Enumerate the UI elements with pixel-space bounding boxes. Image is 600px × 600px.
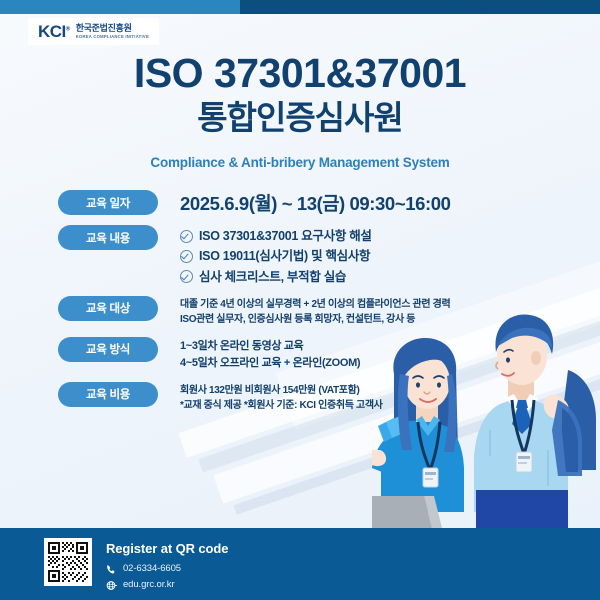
audience-line: 대졸 기준 4년 이상의 실무경력 + 2년 이상의 컴플라이언스 관련 경력 [180,297,450,313]
footer-website-value: edu.grc.or.kr [123,577,175,593]
check-circle-icon [180,230,193,243]
content-item: ISO 37301&37001 요구사항 해설 [180,226,372,246]
top-bar-left-segment [0,0,240,14]
row-label-cost: 교육 비용 [58,382,158,407]
content-item-label: ISO 37301&37001 요구사항 해설 [199,226,372,246]
footer-bar: Register at QR code 02-6334-6605 [0,528,600,600]
audience-line: ISO관련 실무자, 인증심사원 등록 희망자, 컨설턴트, 강사 등 [180,312,450,328]
info-rows: 교육 일자 2025.6.9(월) ~ 13(금) 09:30~16:00 교육… [0,190,600,423]
footer-text-block: Register at QR code 02-6334-6605 [106,538,228,593]
footer-content: Register at QR code 02-6334-6605 [44,538,228,593]
logo-wordmark-text: KCI [38,22,66,41]
row-label-contents: 교육 내용 [58,225,158,250]
logo-org-korean: 한국준법진흥원 [76,24,149,34]
cost-line: *교재 중식 제공 *회원사 기준: KCI 인증취득 고객사 [180,398,383,414]
registered-mark-icon: ® [66,26,70,32]
content-item-label: ISO 19011(심사기법) 및 핵심사항 [199,246,370,266]
kci-logo: KCI® 한국준법진흥원 KOREA COMPLIANCE INITIATIVE [28,18,159,45]
footer-website-line[interactable]: edu.grc.or.kr [106,577,228,593]
training-date-value: 2025.6.9(월) ~ 13(금) 09:30~16:00 [180,191,451,216]
logo-wordmark: KCI® [38,23,70,40]
content-item-label: 심사 체크리스트, 부적합 실습 [199,267,346,287]
logo-org-english: KOREA COMPLIANCE INITIATIVE [76,34,149,39]
check-circle-icon [180,270,193,283]
top-bar-right-segment [240,0,600,14]
info-row-cost: 교육 비용 회원사 132만원 비회원사 154만원 (VAT포함) *교재 중… [0,382,600,414]
title-main: ISO 37301&37001 [0,52,600,95]
qr-code[interactable] [44,538,92,586]
top-accent-bar [0,0,600,14]
content-item: 심사 체크리스트, 부적합 실습 [180,267,372,287]
row-body-cost: 회원사 132만원 비회원사 154만원 (VAT포함) *교재 중식 제공 *… [180,382,383,414]
row-body-date: 2025.6.9(월) ~ 13(금) 09:30~16:00 [180,190,451,216]
content-item: ISO 19011(심사기법) 및 핵심사항 [180,246,372,266]
footer-phone-line[interactable]: 02-6334-6605 [106,561,228,577]
footer-title: Register at QR code [106,541,228,556]
info-row-contents: 교육 내용 ISO 37301&37001 요구사항 해설 ISO 19011(… [0,225,600,287]
row-body-audience: 대졸 기준 4년 이상의 실무경력 + 2년 이상의 컴플라이언스 관련 경력 … [180,296,450,328]
title-block: ISO 37301&37001 통합인증심사원 Compliance & Ant… [0,52,600,170]
info-row-method: 교육 방식 1~3일차 온라인 동영상 교육 4~5일차 오프라인 교육 + 온… [0,337,600,373]
poster-root: KCI® 한국준법진흥원 KOREA COMPLIANCE INITIATIVE… [0,0,600,600]
method-line: 1~3일차 온라인 동영상 교육 [180,338,360,356]
title-english: Compliance & Anti-bribery Management Sys… [0,155,600,170]
info-row-audience: 교육 대상 대졸 기준 4년 이상의 실무경력 + 2년 이상의 컴플라이언스 … [0,296,600,328]
row-body-method: 1~3일차 온라인 동영상 교육 4~5일차 오프라인 교육 + 온라인(ZOO… [180,337,360,373]
check-circle-icon [180,250,193,263]
globe-icon [106,580,117,591]
row-body-contents: ISO 37301&37001 요구사항 해설 ISO 19011(심사기법) … [180,225,372,287]
phone-icon [106,564,117,575]
row-label-method: 교육 방식 [58,337,158,362]
footer-phone-value: 02-6334-6605 [123,561,181,577]
method-line: 4~5일차 오프라인 교육 + 온라인(ZOOM) [180,355,360,373]
cost-line: 회원사 132만원 비회원사 154만원 (VAT포함) [180,383,383,399]
title-sub: 통합인증심사원 [0,97,600,138]
row-label-audience: 교육 대상 [58,296,158,321]
logo-org-name: 한국준법진흥원 KOREA COMPLIANCE INITIATIVE [76,24,149,39]
row-label-date: 교육 일자 [58,190,158,215]
info-row-date: 교육 일자 2025.6.9(월) ~ 13(금) 09:30~16:00 [0,190,600,216]
